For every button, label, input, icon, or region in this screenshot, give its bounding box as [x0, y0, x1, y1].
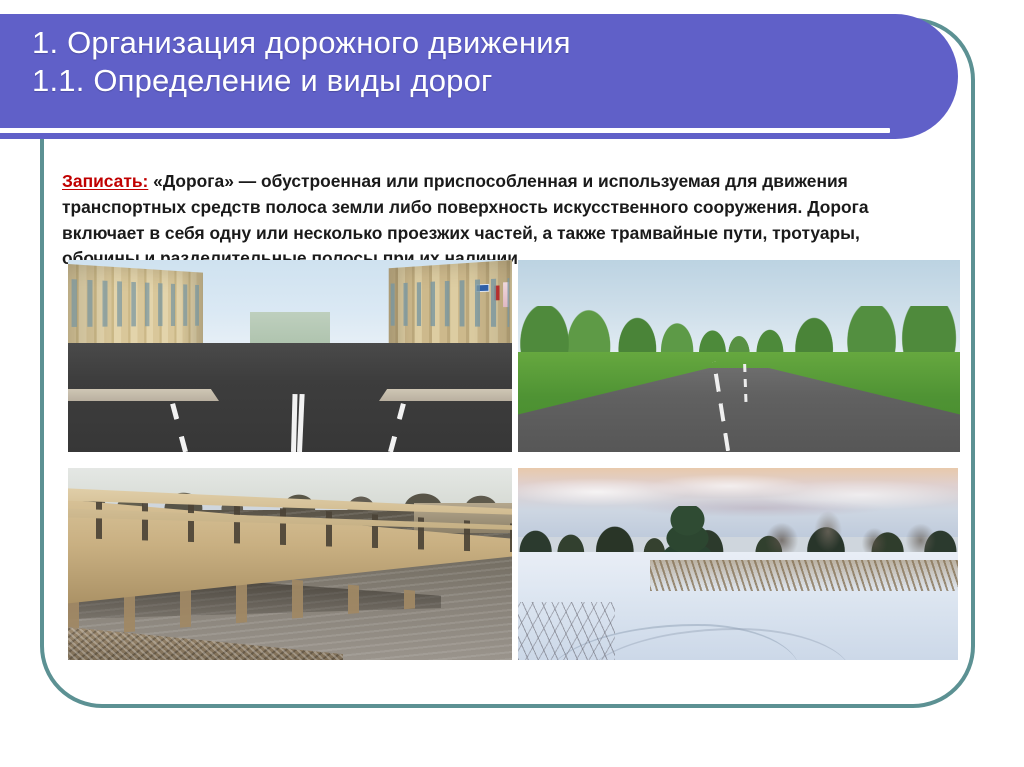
- header-divider-rule: [0, 128, 890, 133]
- record-keyword: Записать:: [62, 171, 148, 191]
- slide-header-banner: 1. Организация дорожного движения 1.1. О…: [0, 14, 958, 139]
- city-street-scene: [68, 260, 512, 452]
- winter-field-scene: [518, 468, 958, 660]
- city-center-line-b: [297, 394, 305, 452]
- city-asphalt-roadway: [68, 343, 512, 452]
- winter-foreground-weeds: [518, 602, 615, 660]
- city-sidewalk-left: [68, 389, 219, 401]
- city-sidewalk-right: [379, 389, 512, 401]
- page-title-line-1: 1. Организация дорожного движения: [32, 24, 898, 62]
- definition-paragraph: Записать: «Дорога» — обустроенная или пр…: [62, 169, 928, 271]
- definition-text: «Дорога» — обустроенная или приспособлен…: [62, 171, 869, 268]
- city-banner-pink: [503, 282, 509, 307]
- winter-dry-brush: [650, 560, 958, 591]
- winter-bare-trees: [747, 495, 941, 560]
- photo-winter-field: [518, 468, 958, 660]
- city-banner-red: [494, 286, 500, 301]
- photo-wooden-bridge: [68, 468, 512, 660]
- city-street-sign-blue: [476, 284, 490, 292]
- slide-root: 1. Организация дорожного движения 1.1. О…: [0, 0, 1024, 767]
- page-title-line-2: 1.1. Определение и виды дорог: [32, 62, 898, 100]
- rural-highway-scene: [518, 260, 960, 452]
- photo-city-street: [68, 260, 512, 452]
- city-lane-dashes-left: [169, 396, 189, 452]
- photo-rural-highway: [518, 260, 960, 452]
- slide-header-text-block: 1. Организация дорожного движения 1.1. О…: [32, 24, 898, 100]
- wooden-bridge-scene: [68, 468, 512, 660]
- city-lane-dashes-right: [388, 396, 408, 452]
